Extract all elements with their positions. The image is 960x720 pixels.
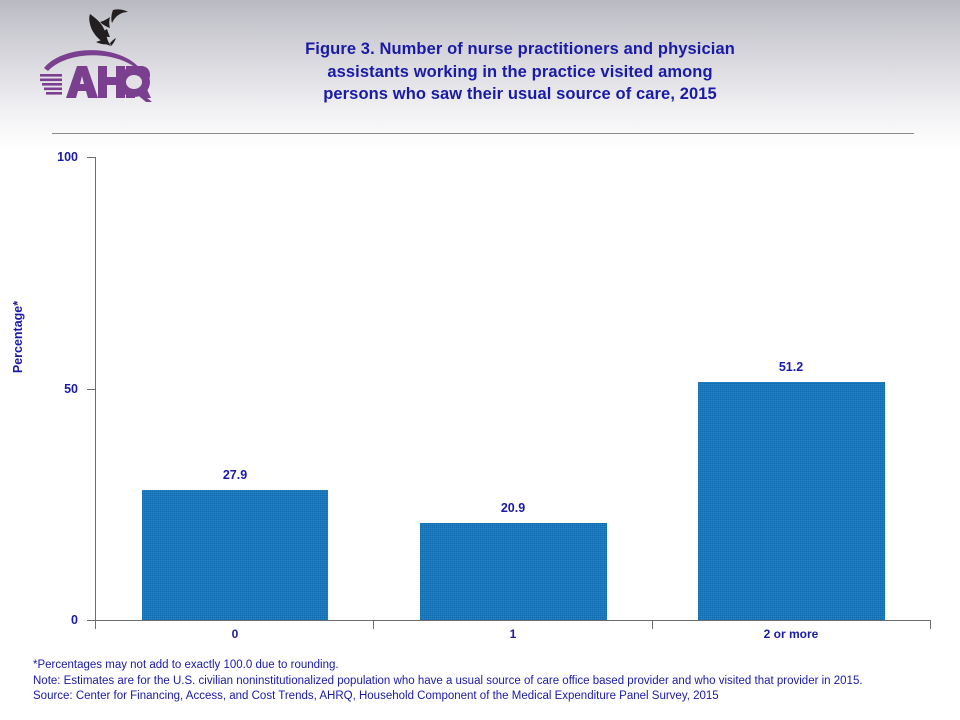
x-tick-mark-1 — [373, 621, 374, 629]
y-tick-label-50: 50 — [18, 382, 78, 396]
y-axis-title: Percentage* — [11, 277, 25, 397]
footnote-source: Source: Center for Financing, Access, an… — [33, 689, 943, 705]
bar-category-0[interactable] — [142, 490, 328, 620]
y-tick-label-0: 0 — [18, 613, 78, 627]
y-tick-label-100: 100 — [18, 150, 78, 164]
x-tick-mark-2 — [652, 621, 653, 629]
x-axis-line — [95, 620, 931, 621]
bar-chart-plot: Percentage* 100 50 0 27.9 0 20.9 1 51.2 … — [0, 0, 960, 720]
x-tick-mark-start — [95, 621, 96, 629]
footnote-percentages: *Percentages may not add to exactly 100.… — [33, 658, 943, 674]
x-axis-label-0: 0 — [145, 627, 325, 641]
figure-page: Figure 3. Number of nurse practitioners … — [0, 0, 960, 720]
y-tick-mark-50 — [87, 389, 95, 390]
bar-value-label-1: 20.9 — [423, 501, 603, 515]
y-axis-line — [95, 157, 96, 621]
footnotes-block: *Percentages may not add to exactly 100.… — [33, 658, 943, 705]
y-tick-mark-100 — [87, 157, 95, 158]
bar-category-2[interactable] — [698, 382, 885, 620]
footnote-note: Note: Estimates are for the U.S. civilia… — [33, 674, 943, 690]
x-axis-label-1: 1 — [423, 627, 603, 641]
bar-value-label-0: 27.9 — [145, 468, 325, 482]
bar-value-label-2: 51.2 — [701, 360, 881, 374]
x-axis-label-2: 2 or more — [701, 627, 881, 641]
x-tick-mark-end — [930, 621, 931, 629]
y-tick-mark-0 — [87, 620, 95, 621]
bar-category-1[interactable] — [420, 523, 607, 620]
